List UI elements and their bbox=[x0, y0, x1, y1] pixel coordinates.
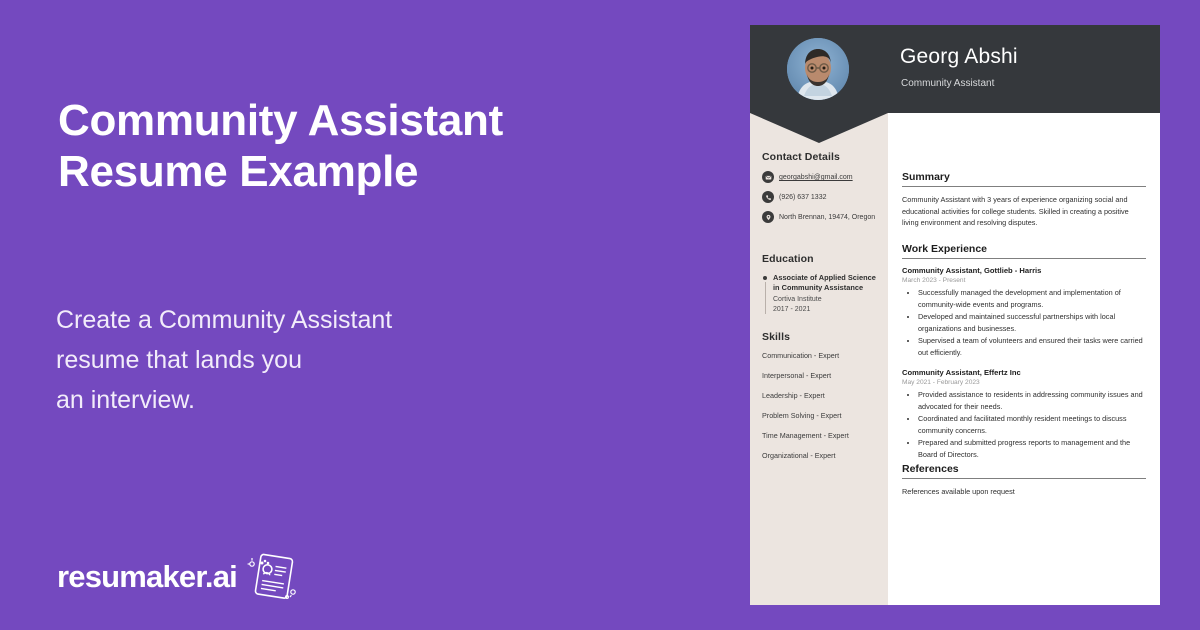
references-divider bbox=[902, 478, 1146, 479]
resume-document-icon bbox=[242, 550, 298, 602]
brand-logo[interactable]: resumaker.ai bbox=[57, 550, 298, 602]
skill-item: Problem Solving - Expert bbox=[762, 411, 880, 421]
page-title: Community Assistant Resume Example bbox=[58, 95, 538, 197]
envelope-icon bbox=[762, 171, 774, 183]
job-dates: March 2023 - Present bbox=[902, 277, 1146, 284]
work-experience-section: Work Experience Community Assistant, Got… bbox=[902, 243, 1146, 461]
references-text: References available upon request bbox=[902, 486, 1146, 498]
education-section: Education Associate of Applied Science i… bbox=[762, 253, 880, 315]
education-years: 2017 - 2021 bbox=[773, 305, 880, 315]
work-experience-item: Community Assistant, Effertz Inc May 202… bbox=[902, 368, 1146, 460]
contact-location-value: North Brennan, 19474, Oregon bbox=[779, 211, 875, 223]
job-title: Community Assistant, Effertz Inc bbox=[902, 368, 1146, 377]
contact-item-email[interactable]: georgabshi@gmail.com bbox=[762, 171, 880, 183]
job-dates: May 2021 - February 2023 bbox=[902, 379, 1146, 386]
resume-main-column: Summary Community Assistant with 3 years… bbox=[888, 113, 1160, 605]
resume-sidebar: Contact Details georgabshi@gmail.com (92… bbox=[750, 113, 888, 605]
contact-details-section: Contact Details georgabshi@gmail.com (92… bbox=[762, 151, 880, 231]
education-heading: Education bbox=[762, 253, 880, 265]
job-bullet: Supervised a team of volunteers and ensu… bbox=[918, 335, 1146, 358]
summary-heading: Summary bbox=[902, 171, 1146, 186]
page-title-line-1: Community Assistant bbox=[58, 95, 538, 146]
page-subtitle-line-3: an interview. bbox=[56, 380, 516, 420]
avatar bbox=[787, 38, 849, 100]
resume-preview-card[interactable]: Georg Abshi Community Assistant Contact … bbox=[750, 25, 1160, 605]
resume-candidate-role: Community Assistant bbox=[901, 78, 994, 89]
job-bullet: Coordinated and facilitated monthly resi… bbox=[918, 413, 1146, 436]
skills-heading: Skills bbox=[762, 331, 880, 343]
skill-item: Communication - Expert bbox=[762, 351, 880, 361]
education-school: Cortiva Institute bbox=[773, 295, 880, 305]
page-title-line-2: Resume Example bbox=[58, 146, 538, 197]
summary-divider bbox=[902, 186, 1146, 187]
job-bullets: Provided assistance to residents in addr… bbox=[902, 389, 1146, 460]
references-heading: References bbox=[902, 463, 1146, 478]
phone-icon bbox=[762, 191, 774, 203]
skill-item: Organizational - Expert bbox=[762, 451, 880, 461]
job-bullet: Developed and maintained successful part… bbox=[918, 311, 1146, 334]
skill-item: Interpersonal - Expert bbox=[762, 371, 880, 381]
contact-item-location[interactable]: North Brennan, 19474, Oregon bbox=[762, 211, 880, 223]
page-subtitle: Create a Community Assistant resume that… bbox=[56, 300, 516, 420]
work-experience-item: Community Assistant, Gottlieb - Harris M… bbox=[902, 266, 1146, 358]
page-subtitle-line-1: Create a Community Assistant bbox=[56, 300, 516, 340]
job-bullet: Successfully managed the development and… bbox=[918, 287, 1146, 310]
job-bullet: Provided assistance to residents in addr… bbox=[918, 389, 1146, 412]
work-experience-heading: Work Experience bbox=[902, 243, 1146, 258]
skills-section: Skills Communication - Expert Interperso… bbox=[762, 331, 880, 471]
education-degree: Associate of Applied Science in Communit… bbox=[773, 273, 880, 293]
brand-logo-text: resumaker.ai bbox=[57, 561, 237, 592]
work-experience-divider bbox=[902, 258, 1146, 259]
page-subtitle-line-2: resume that lands you bbox=[56, 340, 516, 380]
contact-email-value: georgabshi@gmail.com bbox=[779, 171, 853, 183]
job-title: Community Assistant, Gottlieb - Harris bbox=[902, 266, 1146, 275]
education-item: Associate of Applied Science in Communit… bbox=[762, 273, 880, 315]
location-pin-icon bbox=[762, 211, 774, 223]
resume-candidate-name: Georg Abshi bbox=[900, 45, 1018, 69]
promo-panel: Community Assistant Resume Example Creat… bbox=[0, 0, 750, 630]
job-bullets: Successfully managed the development and… bbox=[902, 287, 1146, 358]
job-bullet: Prepared and submitted progress reports … bbox=[918, 437, 1146, 460]
summary-section: Summary Community Assistant with 3 years… bbox=[902, 171, 1146, 229]
contact-item-phone[interactable]: (926) 637 1332 bbox=[762, 191, 880, 203]
contact-phone-value: (926) 637 1332 bbox=[779, 191, 826, 203]
skill-item: Time Management - Expert bbox=[762, 431, 880, 441]
skill-item: Leadership - Expert bbox=[762, 391, 880, 401]
summary-text: Community Assistant with 3 years of expe… bbox=[902, 194, 1146, 229]
references-section: References References available upon req… bbox=[902, 463, 1146, 498]
contact-details-heading: Contact Details bbox=[762, 151, 880, 163]
